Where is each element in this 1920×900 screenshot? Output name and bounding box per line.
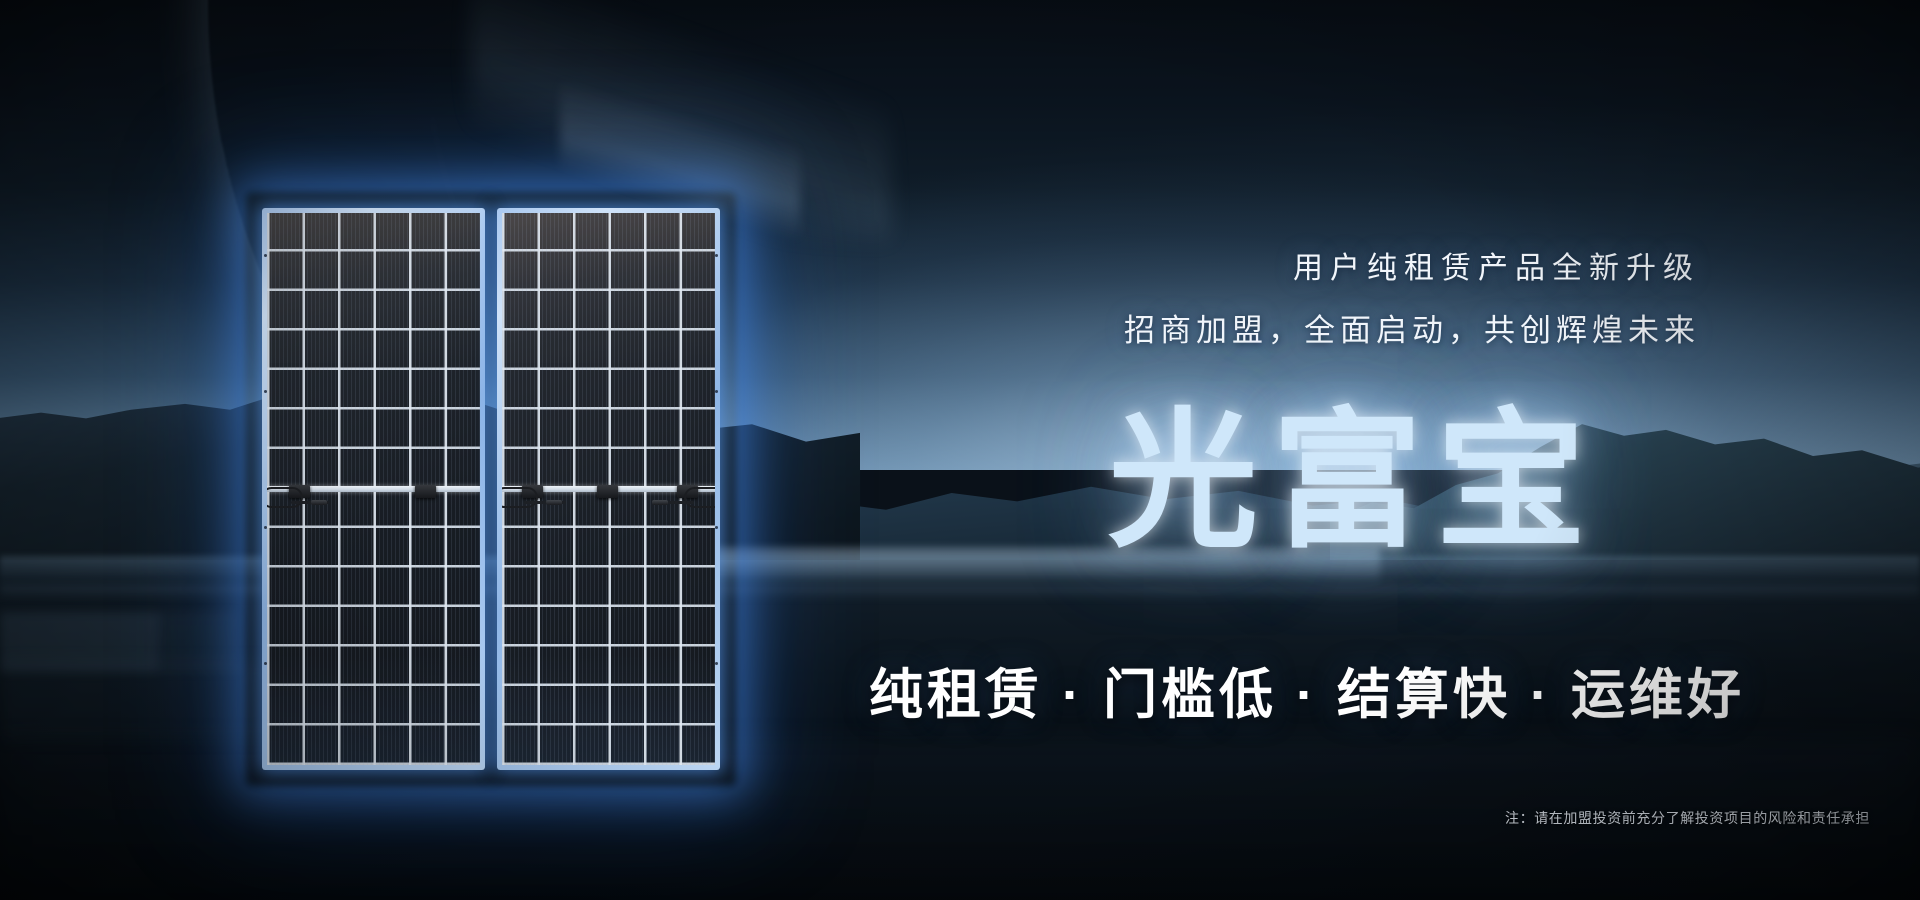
headline-block: 用户纯租赁产品全新升级 招商加盟，全面启动，共创辉煌未来 bbox=[0, 250, 1700, 350]
frame-screw-l4 bbox=[264, 662, 267, 665]
disclaimer-note: 注：请在加盟投资前充分了解投资项目的风险和责任承担 bbox=[0, 808, 1870, 828]
headline-line-1: 用户纯租赁产品全新升级 bbox=[0, 250, 1700, 288]
frame-screw-r4 bbox=[715, 662, 718, 665]
headline-line-2: 招商加盟，全面启动，共创辉煌未来 bbox=[0, 312, 1700, 351]
tagline: 纯租赁 · 门槛低 · 结算快 · 运维好 bbox=[0, 666, 1745, 725]
frame-screw-l2 bbox=[264, 390, 267, 393]
promo-banner: 用户纯租赁产品全新升级 招商加盟，全面启动，共创辉煌未来 光富宝 纯租赁 · 门… bbox=[0, 0, 1920, 900]
frame-screw-r2 bbox=[715, 390, 718, 393]
brand-title: 光富宝 bbox=[0, 406, 1600, 556]
